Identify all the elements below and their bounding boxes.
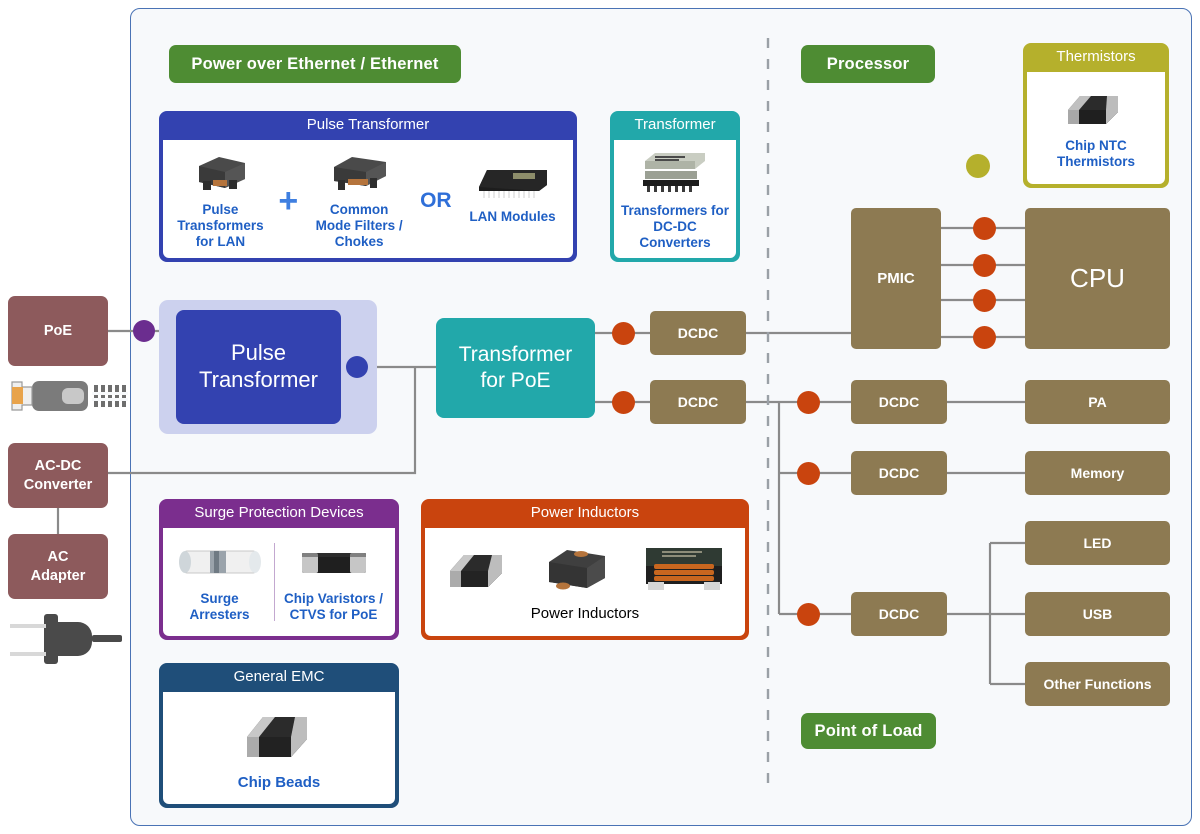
block-pulse-transformer[interactable]: Pulse Transformer [176,310,341,424]
panel-item-chip-varistors[interactable]: Chip Varistors / CTVS for PoE [275,541,393,622]
caption-line1: Surge [200,591,238,606]
block-led[interactable]: LED [1025,521,1170,565]
input-block-poe[interactable]: PoE [8,296,108,366]
power-inductors-icon-row [429,542,741,599]
caption-line2: Transformers [177,218,263,233]
pulse-transformer-label-line1: Pulse [199,340,318,367]
section-badge-processor-label: Processor [827,55,910,74]
molded-power-inductor-icon[interactable] [537,542,617,599]
panel-item-chip-beads[interactable]: Chip Beads [233,705,325,791]
block-pa[interactable]: PA [1025,380,1170,424]
block-usb[interactable]: USB [1025,592,1170,636]
panel-transformer: Transformer [610,111,740,262]
component-dot-pmic-cpu-rail-3 [973,289,996,312]
chip-varistor-icon [294,541,374,588]
caption-line2: Thermistors [1057,154,1135,169]
ac-plug-icon [6,608,128,670]
caption-line3: for LAN [196,234,246,249]
pulse-transformer-label-line2: Transformer [199,367,318,394]
led-label: LED [1084,535,1112,551]
caption-line1: Chip NTC [1065,138,1127,153]
block-transformer-for-poe[interactable]: Transformer for PoE [436,318,595,418]
block-dcdc-pa[interactable]: DCDC [851,380,947,424]
dcdc-label: DCDC [678,325,718,341]
usb-label: USB [1083,606,1113,622]
dcdc-label: DCDC [678,394,718,410]
cpu-label: CPU [1070,263,1125,294]
caption-line1: Chip Beads [238,774,321,791]
component-dot-dcdc-memory-input [797,462,820,485]
input-block-ac-dc-converter[interactable]: AC-DC Converter [8,443,108,508]
pa-label: PA [1088,394,1106,410]
ac-adapter-label-line2: Adapter [31,567,86,585]
caption-line1: Chip Varistors / [284,591,383,606]
component-dot-dcdc-pa-input [797,391,820,414]
component-dot-pmic-cpu-rail-2 [973,254,996,277]
common-mode-choke-icon [326,152,392,199]
component-dot-dcdc-other-input [797,603,820,626]
panel-item-transformers-for-dcdc[interactable]: Transformers for DC-DC Converters [618,147,732,250]
pmic-label: PMIC [877,270,915,287]
transformer-poe-label-line2: for PoE [459,368,573,394]
panel-thermistors-header: Thermistors [1024,44,1168,72]
rj45-connector-icon [6,375,128,417]
component-dot-thermistor [966,154,990,178]
block-memory[interactable]: Memory [1025,451,1170,495]
panel-transformer-header: Transformer [611,112,739,140]
panel-item-pulse-transformers-for-lan[interactable]: Pulse Transformers for LAN [171,152,269,249]
component-dot-pmic-cpu-rail-4 [973,326,996,349]
memory-label: Memory [1071,465,1125,481]
caption-line2: Arresters [189,607,249,622]
ac-adapter-label-line1: AC [31,548,86,566]
panel-power-inductors: Power Inductors [421,499,749,640]
junction-dot-pulse-transformer-output [346,356,368,378]
component-dot-dcdc1-input [612,322,635,345]
poe-label: PoE [44,322,72,340]
power-inductors-caption: Power Inductors [531,605,639,622]
ac-dc-converter-label-line2: Converter [24,476,93,494]
panel-item-lan-modules[interactable]: LAN Modules [461,161,565,241]
multilayer-inductor-icon[interactable] [440,543,516,598]
caption-line1: Common [330,202,389,217]
caption-line2: DC-DC Converters [639,219,710,250]
panel-surge-protection-header: Surge Protection Devices [160,500,398,528]
panel-thermistors: Thermistors Chip NTC Thermistors [1023,43,1169,188]
dcdc-label: DCDC [879,606,919,622]
lan-module-icon [473,161,553,206]
operator-plus: + [278,184,298,218]
block-cpu[interactable]: CPU [1025,208,1170,349]
caption-line2: CTVS for PoE [290,607,378,622]
section-badge-point-of-load: Point of Load [801,713,936,749]
panel-item-surge-arresters[interactable]: Surge Arresters [166,541,274,622]
panel-surge-protection: Surge Protection Devices Surge Arresters [159,499,399,640]
panel-item-chip-ntc-thermistors[interactable]: Chip NTC Thermistors [1057,86,1135,169]
section-badge-processor: Processor [801,45,935,83]
ac-dc-converter-label-line1: AC-DC [24,457,93,475]
panel-item-common-mode-filters[interactable]: Common Mode Filters / Chokes [307,152,411,249]
dcdc-label: DCDC [879,465,919,481]
caption-line2: Mode Filters / [316,218,403,233]
other-functions-label: Other Functions [1043,676,1151,692]
caption-line1: Pulse [202,202,238,217]
caption-line1: Transformers for [621,203,729,218]
block-dcdc-pmic[interactable]: DCDC [650,311,746,355]
block-dcdc-pol[interactable]: DCDC [650,380,746,424]
block-dcdc-memory[interactable]: DCDC [851,451,947,495]
pulse-transformer-chip-icon [189,152,251,199]
section-badge-poe-label: Power over Ethernet / Ethernet [191,55,438,74]
caption-line1: LAN Modules [469,209,555,224]
panel-power-inductors-header: Power Inductors [422,500,748,528]
panel-general-emc-header: General EMC [160,664,398,692]
section-badge-poe-ethernet: Power over Ethernet / Ethernet [169,45,461,83]
dcdc-transformer-icon [633,147,717,200]
junction-dot-poe-input [133,320,155,342]
component-dot-pmic-cpu-rail-1 [973,217,996,240]
chip-ntc-thermistor-icon [1060,86,1132,135]
panel-pulse-transformer-header: Pulse Transformer [160,112,576,140]
block-dcdc-other[interactable]: DCDC [851,592,947,636]
operator-or: OR [420,189,452,213]
caption-line3: Chokes [335,234,384,249]
transformer-poe-label-line1: Transformer [459,342,573,368]
diagram-root: PoE AC-DC Converter AC Adapter [0,0,1200,834]
panel-general-emc: General EMC Chip Beads [159,663,399,808]
component-dot-dcdc2-input [612,391,635,414]
panel-pulse-transformer: Pulse Transformer Pulse Transformers [159,111,577,262]
chip-bead-icon [233,705,325,768]
block-other-functions[interactable]: Other Functions [1025,662,1170,706]
section-badge-pol-label: Point of Load [815,722,923,741]
surge-arrester-icon [174,541,266,588]
dcdc-label: DCDC [879,394,919,410]
input-block-ac-adapter[interactable]: AC Adapter [8,534,108,599]
block-pmic[interactable]: PMIC [851,208,941,349]
wirewound-power-inductor-icon[interactable] [638,542,730,599]
